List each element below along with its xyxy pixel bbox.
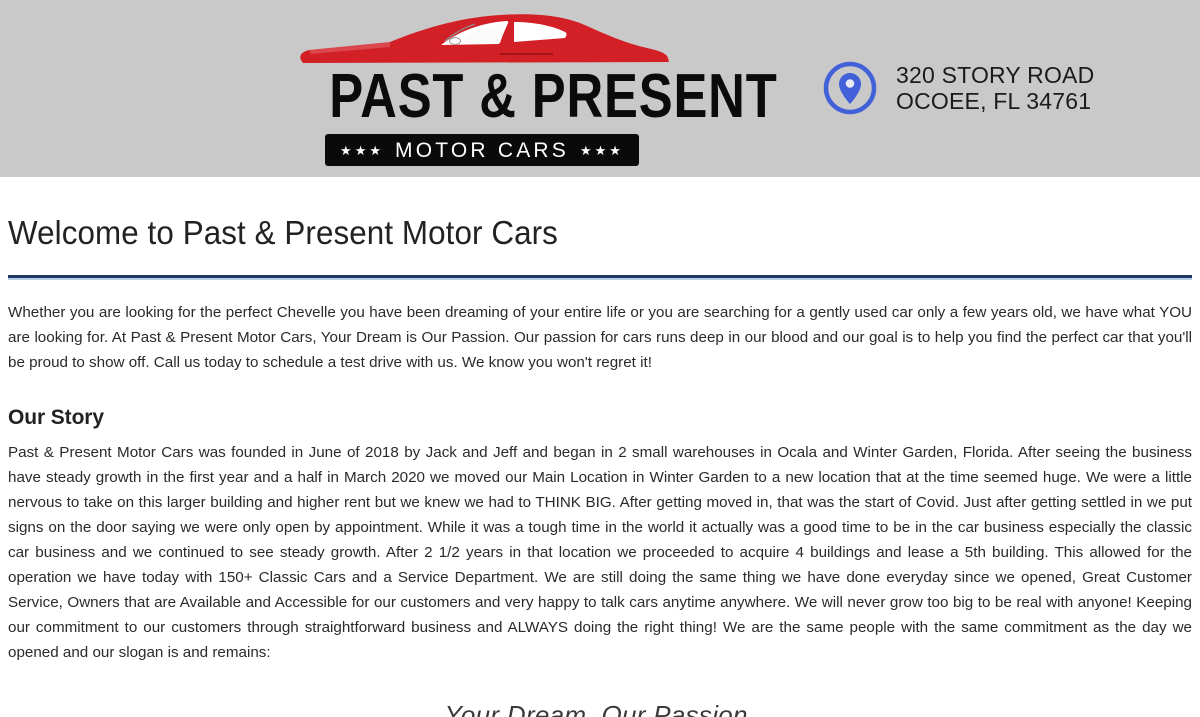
address-line-2: OCOEE, FL 34761	[896, 88, 1094, 114]
site-header: PAST & PRESENT ★★★ MOTOR CARS ★★★ 320 ST…	[0, 0, 1200, 177]
stars-right-icon: ★★★	[580, 144, 624, 157]
intro-paragraph: Whether you are looking for the perfect …	[8, 278, 1192, 375]
company-slogan: Your Dream. Our Passion.	[8, 665, 1192, 717]
section-title-our-story: Our Story	[8, 375, 1192, 431]
address-block[interactable]: 320 STORY ROAD OCOEE, FL 34761	[822, 60, 1094, 116]
logo-wordmark: PAST & PRESENT	[329, 66, 641, 128]
main-content: Welcome to Past & Present Motor Cars Whe…	[0, 177, 1200, 717]
map-pin-icon	[822, 60, 878, 116]
story-paragraph: Past & Present Motor Cars was founded in…	[8, 431, 1192, 665]
red-muscle-car-icon	[295, 8, 675, 70]
address-line-1: 320 STORY ROAD	[896, 62, 1094, 88]
logo-subbar-text: MOTOR CARS	[395, 140, 569, 161]
site-logo[interactable]: PAST & PRESENT ★★★ MOTOR CARS ★★★	[295, 8, 675, 168]
address-text: 320 STORY ROAD OCOEE, FL 34761	[896, 62, 1094, 114]
page-title: Welcome to Past & Present Motor Cars	[8, 177, 1133, 253]
stars-left-icon: ★★★	[340, 144, 384, 157]
logo-subbar: ★★★ MOTOR CARS ★★★	[325, 134, 639, 166]
